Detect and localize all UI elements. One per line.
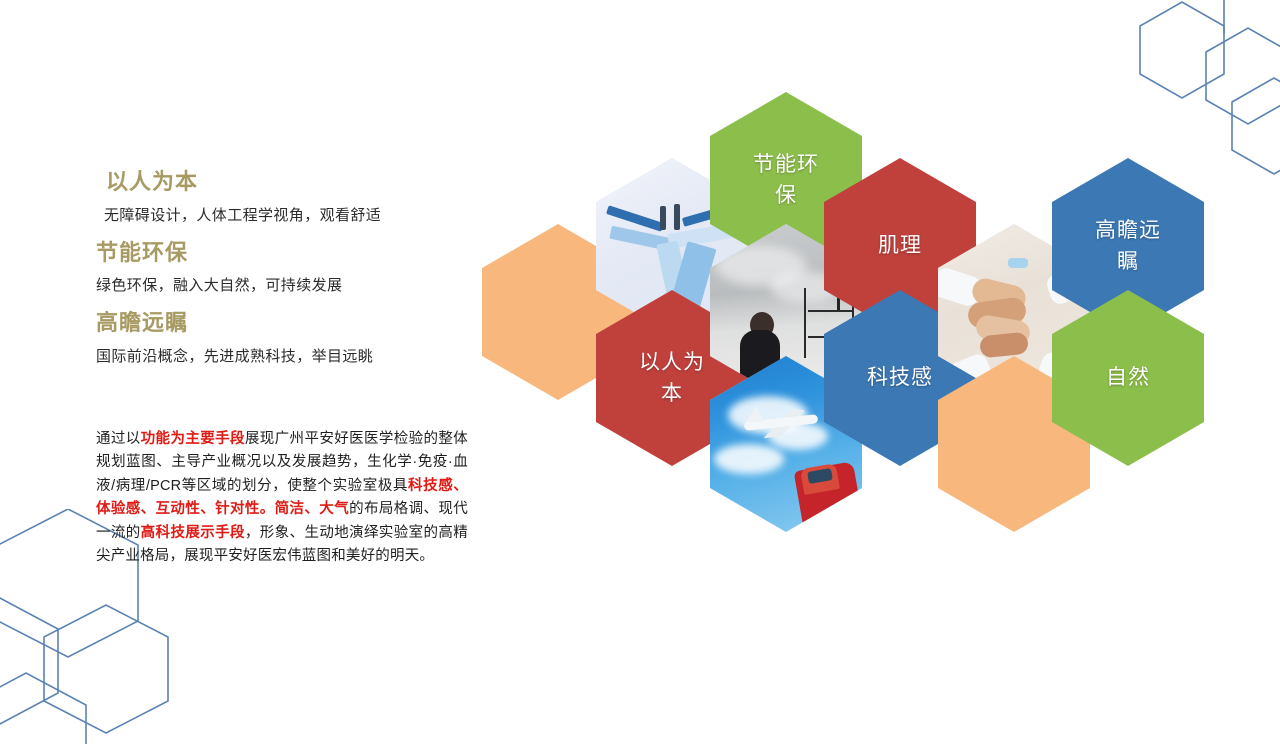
hexagon-label: 肌理 — [858, 230, 942, 262]
key-values-list: 以人为本 无障碍设计，人体工程学视角，观看舒适 节能环保 绿色环保，融入大自然，… — [96, 168, 496, 380]
key-value-title: 高瞻远瞩 — [96, 309, 496, 337]
key-value-desc: 国际前沿概念，先进成熟科技，举目远眺 — [96, 346, 496, 367]
key-value-item: 以人为本 无障碍设计，人体工程学视角，观看舒适 — [96, 168, 496, 226]
key-value-item: 高瞻远瞩 国际前沿概念，先进成熟科技，举目远眺 — [96, 309, 496, 367]
hexagon-label: 高瞻远瞩 — [1086, 215, 1170, 278]
paragraph-text: 通过以 — [96, 431, 141, 447]
key-value-desc: 绿色环保，融入大自然，可持续发展 — [96, 275, 496, 296]
slide-canvas: 以人为本 无障碍设计，人体工程学视角，观看舒适 节能环保 绿色环保，融入大自然，… — [0, 0, 1280, 744]
hexagon-label: 以人为本 — [630, 347, 714, 410]
paragraph-emphasis: 高科技展示手段 — [141, 525, 245, 541]
key-value-title: 以人为本 — [106, 168, 496, 196]
hexagon-label: 自然 — [1086, 362, 1170, 394]
key-value-desc: 无障碍设计，人体工程学视角，观看舒适 — [104, 205, 496, 226]
description-paragraph: 通过以功能为主要手段展现广州平安好医医学检验的整体规划蓝图、主导产业概况以及发展… — [96, 428, 468, 569]
hexagon-label: 科技感 — [858, 362, 942, 394]
paragraph-emphasis: 功能为主要手段 — [141, 431, 245, 447]
hexagon-cluster: 以人为本 节能环保 肌理 科技感 — [470, 60, 1280, 540]
hexagon-label: 节能环保 — [744, 149, 828, 212]
key-value-item: 节能环保 绿色环保，融入大自然，可持续发展 — [96, 239, 496, 297]
key-value-title: 节能环保 — [96, 239, 496, 267]
